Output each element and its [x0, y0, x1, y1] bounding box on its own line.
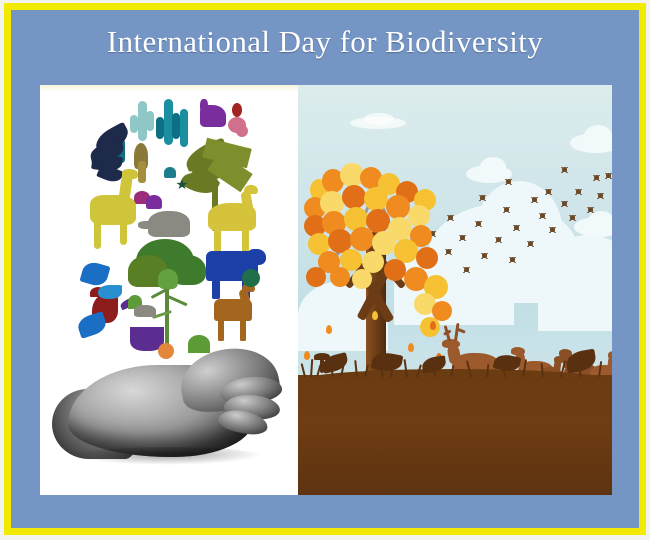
page-title: International Day for Biodiversity: [11, 22, 639, 62]
bird-icon: [568, 215, 577, 221]
cactus-icon: [180, 109, 188, 147]
rock-icon: [134, 305, 156, 317]
bird-icon: [76, 311, 109, 339]
butterfly-icon: [146, 195, 162, 209]
cloud-icon: [588, 211, 612, 231]
mushroom-stem-icon: [320, 359, 324, 373]
human-hand-illustration: [52, 343, 284, 465]
hand-shadow: [72, 447, 262, 465]
bird-icon: [530, 197, 539, 203]
sapling-leaf-icon: [158, 269, 178, 289]
autumn-forest-scene: [298, 85, 612, 495]
cloud-icon: [584, 125, 612, 147]
flower-icon: [232, 103, 242, 117]
deer-head: [608, 351, 612, 359]
bird-icon: [526, 241, 535, 247]
leaf-cluster: [384, 259, 406, 281]
bird-icon: [596, 193, 605, 199]
leaf-cluster: [350, 227, 374, 251]
ground: [298, 375, 612, 495]
cactus-arm-icon: [130, 115, 138, 133]
bird-icon: [586, 207, 595, 213]
fish-icon: [98, 285, 122, 299]
deer-head: [511, 347, 525, 355]
horse-leg-icon: [240, 317, 246, 341]
bird-icon: [502, 207, 511, 213]
flower-icon: [236, 125, 248, 137]
bird-icon: [604, 173, 612, 179]
bird-icon: [574, 189, 583, 195]
falling-leaf: [408, 343, 414, 352]
llama-neck-icon: [200, 99, 208, 113]
falling-leaf: [430, 321, 436, 330]
leaf-cluster: [408, 205, 430, 227]
camel-head-icon: [244, 185, 258, 194]
sapling-icon: [138, 161, 146, 183]
panel-top-highlight: [40, 85, 298, 92]
bird-icon: [512, 225, 521, 231]
giraffe-leg-icon: [120, 219, 127, 245]
bird-icon: [548, 227, 557, 233]
cow-head-icon: [248, 249, 266, 265]
shell-icon: [242, 269, 260, 287]
bird-icon: [504, 179, 513, 185]
bird-icon: [544, 189, 553, 195]
giraffe-head-icon: [122, 169, 138, 179]
bird-icon: [560, 167, 569, 173]
butterfly-icon: [164, 167, 176, 178]
falling-leaf: [372, 311, 378, 320]
leaf-cluster: [342, 185, 366, 209]
bird-icon: [508, 257, 517, 263]
falling-leaf: [326, 325, 332, 334]
elephant-trunk-icon: [138, 221, 156, 229]
leaf-cluster: [386, 195, 410, 219]
leaf-cluster: [364, 187, 388, 211]
cactus-arm-icon: [146, 111, 154, 131]
bird-icon: [560, 201, 569, 207]
cactus-arm-icon: [172, 113, 180, 139]
camel-leg-icon: [242, 225, 249, 253]
horse-leg-icon: [218, 317, 224, 341]
image-row: [40, 85, 612, 495]
giraffe-leg-icon: [94, 219, 101, 249]
poster: International Day for Biodiversity: [0, 0, 650, 540]
bird-icon: [592, 175, 601, 181]
biodiversity-in-hand-illustration: [40, 85, 298, 495]
bird-icon: [494, 237, 503, 243]
bird-icon: [538, 213, 547, 219]
leaf-cluster: [352, 269, 372, 289]
poster-canvas: International Day for Biodiversity: [11, 10, 639, 528]
stag-head: [442, 339, 460, 348]
falling-leaf: [304, 351, 310, 360]
leaf-cluster: [306, 267, 326, 287]
cow-leg-icon: [212, 275, 220, 299]
leaf-cluster: [416, 247, 438, 269]
cactus-arm-icon: [156, 117, 164, 139]
leaf-cluster: [330, 267, 350, 287]
cloud-icon: [364, 113, 394, 125]
